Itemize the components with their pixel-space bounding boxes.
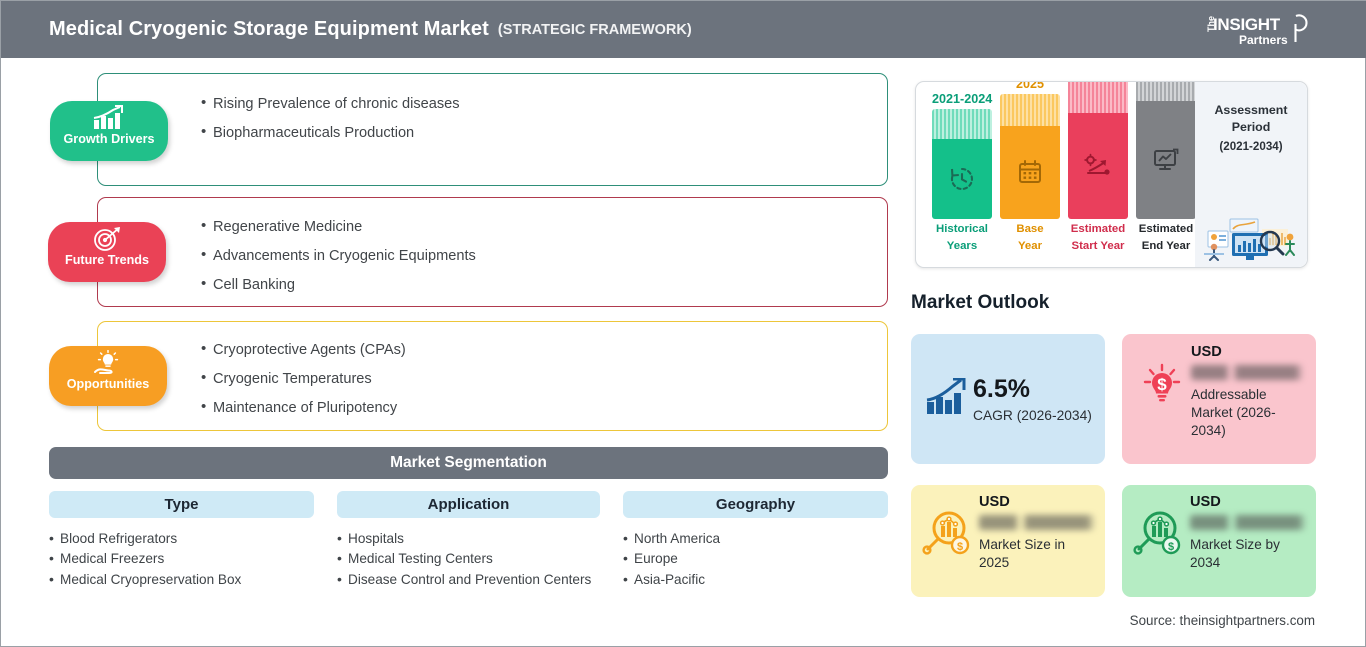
- assessment-period-label: Assessment Period (2021-2034): [1195, 82, 1307, 267]
- column-list: Hospitals Medical Testing Centers Diseas…: [337, 529, 600, 590]
- bar-year-label: 2021-2024: [932, 92, 992, 106]
- outlook-card-cagr[interactable]: 6.5% CAGR (2026-2034): [911, 334, 1105, 464]
- list-item: Cell Banking: [201, 277, 476, 293]
- page-subtitle: (STRATEGIC FRAMEWORK): [498, 22, 692, 38]
- badge-label: Growth Drivers: [64, 132, 155, 146]
- infographic-page: Medical Cryogenic Storage Equipment Mark…: [0, 0, 1366, 647]
- insight-partners-logo: The INSIGHT Partners: [1197, 10, 1309, 50]
- svg-text:$: $: [1168, 541, 1174, 553]
- assessment-bars: 2021-2024 Historical Years 2025: [932, 82, 1204, 267]
- bar-caption-line2: Year: [1000, 240, 1060, 253]
- column-header: Application: [337, 491, 600, 518]
- svg-text:Partners: Partners: [1239, 33, 1288, 47]
- badge-label: Opportunities: [67, 377, 150, 391]
- list-item: Maintenance of Pluripotency: [201, 400, 406, 416]
- badge-future-trends[interactable]: Future Trends: [48, 222, 166, 282]
- market-outlook-title: Market Outlook: [911, 292, 1049, 314]
- list-item: Blood Refrigerators: [49, 529, 314, 549]
- bullet-list-growth-drivers: Rising Prevalence of chronic diseases Bi…: [201, 96, 460, 154]
- list-item: Regenerative Medicine: [201, 219, 476, 235]
- outlook-card-addressable-market[interactable]: $ USD Addressable Market (2026-2034): [1122, 334, 1316, 464]
- list-item: Advancements in Cryogenic Equipments: [201, 248, 476, 264]
- assessment-bar-estimated-end: 2034 Estimated End Year: [1136, 81, 1196, 253]
- segmentation-column-type: Type Blood Refrigerators Medical Freezer…: [49, 491, 314, 590]
- assessment-range: (2021-2034): [1195, 140, 1307, 153]
- bar-shape: [1068, 81, 1128, 219]
- card-label: Addressable Market (2026-2034): [1191, 386, 1303, 440]
- list-item: Europe: [623, 549, 888, 569]
- assessment-bar-estimated-start: 2026 Estimated St: [1068, 81, 1128, 253]
- bar-year-label: 2025: [1000, 81, 1060, 91]
- assessment-bar-historical: 2021-2024 Historical Years: [932, 92, 992, 253]
- bar-shape: [932, 109, 992, 219]
- list-item: North America: [623, 529, 888, 549]
- hidden-value-blur: [979, 515, 1095, 530]
- segmentation-column-geography: Geography North America Europe Asia-Paci…: [623, 491, 888, 590]
- outlook-card-market-size-2025[interactable]: $ USD Market Size in 2025: [911, 485, 1105, 597]
- bullet-list-opportunities: Cryoprotective Agents (CPAs) Cryogenic T…: [201, 342, 406, 429]
- bar-chart-arrow-icon: [925, 378, 969, 418]
- bar-caption-line1: Estimated: [1136, 223, 1196, 236]
- column-list: North America Europe Asia-Pacific: [623, 529, 888, 590]
- hidden-value-blur: [1191, 365, 1303, 380]
- list-item: Medical Freezers: [49, 549, 314, 569]
- target-dart-icon: [92, 226, 122, 252]
- assessment-title-line2: Period: [1232, 120, 1271, 134]
- list-item: Cryoprotective Agents (CPAs): [201, 342, 406, 358]
- badge-label: Future Trends: [65, 253, 149, 267]
- list-item: Cryogenic Temperatures: [201, 371, 406, 387]
- outlook-card-market-size-2034[interactable]: $ USD Market Size by 2034: [1122, 485, 1316, 597]
- bar-caption-line2: Years: [932, 240, 992, 253]
- column-list: Blood Refrigerators Medical Freezers Med…: [49, 529, 314, 590]
- bar-caption-line2: Start Year: [1068, 240, 1128, 253]
- monitor-chart-icon: [1152, 147, 1180, 173]
- header-bar: Medical Cryogenic Storage Equipment Mark…: [1, 1, 1366, 58]
- calendar-icon: [1017, 159, 1043, 185]
- svg-text:$: $: [1157, 375, 1167, 394]
- svg-text:INSIGHT: INSIGHT: [1213, 15, 1281, 34]
- column-header: Geography: [623, 491, 888, 518]
- segmentation-column-application: Application Hospitals Medical Testing Ce…: [337, 491, 600, 590]
- bar-caption-line2: End Year: [1136, 240, 1196, 253]
- assessment-title-line1: Assessment: [1214, 103, 1287, 117]
- cagr-label: CAGR (2026-2034): [973, 408, 1092, 423]
- page-title: Medical Cryogenic Storage Equipment Mark…: [49, 18, 489, 41]
- bullet-list-future-trends: Regenerative Medicine Advancements in Cr…: [201, 219, 476, 306]
- card-label: Market Size by 2034: [1190, 536, 1306, 572]
- bar-shape: [1000, 94, 1060, 219]
- card-label: Market Size in 2025: [979, 536, 1095, 572]
- history-clock-icon: [949, 166, 975, 192]
- list-item: Medical Testing Centers: [337, 549, 600, 569]
- bar-caption-line1: Historical: [932, 223, 992, 236]
- list-item: Hospitals: [337, 529, 600, 549]
- list-item: Rising Prevalence of chronic diseases: [201, 96, 460, 112]
- gear-chart-icon: [1084, 153, 1112, 179]
- analytics-illustration: [1200, 203, 1304, 263]
- currency-label: USD: [979, 494, 1095, 510]
- badge-growth-drivers[interactable]: Growth Drivers: [50, 101, 168, 161]
- hidden-value-blur: [1190, 515, 1306, 530]
- lightbulb-hand-icon: [91, 350, 125, 376]
- source-text: Source: theinsightpartners.com: [1130, 613, 1315, 628]
- market-segmentation-title: Market Segmentation: [49, 447, 888, 479]
- growth-bar-chart-arrow-icon: [91, 105, 127, 131]
- assessment-bar-base: 2025 B: [1000, 81, 1060, 253]
- magnifier-chart-dollar-icon: $: [922, 509, 972, 557]
- list-item: Disease Control and Prevention Centers: [337, 570, 600, 590]
- currency-label: USD: [1191, 344, 1303, 360]
- lightbulb-dollar-icon: $: [1139, 362, 1185, 408]
- svg-text:$: $: [957, 541, 963, 553]
- bar-caption-line1: Base: [1000, 223, 1060, 236]
- list-item: Medical Cryopreservation Box: [49, 570, 314, 590]
- assessment-period-panel: 2021-2024 Historical Years 2025: [915, 81, 1308, 268]
- magnifier-chart-dollar-icon: $: [1133, 509, 1183, 557]
- bar-caption-line1: Estimated: [1068, 223, 1128, 236]
- bar-shape: [1136, 81, 1196, 219]
- badge-opportunities[interactable]: Opportunities: [49, 346, 167, 406]
- list-item: Asia-Pacific: [623, 570, 888, 590]
- cagr-value: 6.5%: [973, 375, 1030, 404]
- currency-label: USD: [1190, 494, 1306, 510]
- list-item: Biopharmaceuticals Production: [201, 125, 460, 141]
- column-header: Type: [49, 491, 314, 518]
